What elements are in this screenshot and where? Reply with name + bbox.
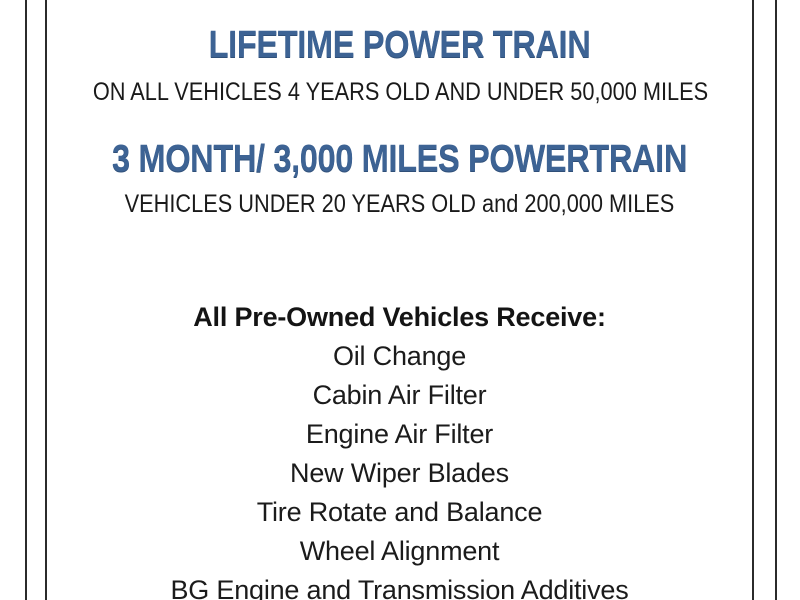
warranty-block-3month: 3 MONTH/ 3,000 MILES POWERTRAIN xyxy=(47,140,752,178)
frame-rule-right-inner xyxy=(752,0,754,600)
service-item: Engine Air Filter xyxy=(47,415,752,454)
services-section: All Pre-Owned Vehicles Receive: Oil Chan… xyxy=(47,298,752,600)
warranty-subtitle-3month: VEHICLES UNDER 20 YEARS OLD and 200,000 … xyxy=(93,192,706,217)
services-heading: All Pre-Owned Vehicles Receive: xyxy=(47,298,752,337)
service-item: Cabin Air Filter xyxy=(47,376,752,415)
warranty-subtitle-lifetime: ON ALL VEHICLES 4 YEARS OLD AND UNDER 50… xyxy=(93,80,706,105)
frame-rule-left-outer xyxy=(25,0,27,600)
warranty-subtitle-3month-wrap: VEHICLES UNDER 20 YEARS OLD and 200,000 … xyxy=(47,192,752,217)
warranty-title-3month: 3 MONTH/ 3,000 MILES POWERTRAIN xyxy=(96,140,702,178)
warranty-block-lifetime: LIFETIME POWER TRAIN xyxy=(47,26,752,64)
warranty-subtitle-lifetime-wrap: ON ALL VEHICLES 4 YEARS OLD AND UNDER 50… xyxy=(47,80,752,105)
warranty-flyer: LIFETIME POWER TRAIN ON ALL VEHICLES 4 Y… xyxy=(0,0,800,600)
warranty-title-lifetime: LIFETIME POWER TRAIN xyxy=(96,26,702,64)
service-item: Oil Change xyxy=(47,337,752,376)
service-item: BG Engine and Transmission Additives xyxy=(47,571,752,600)
service-item: Wheel Alignment xyxy=(47,532,752,571)
frame-rule-right-outer xyxy=(775,0,777,600)
service-item: Tire Rotate and Balance xyxy=(47,493,752,532)
service-item: New Wiper Blades xyxy=(47,454,752,493)
flyer-content: LIFETIME POWER TRAIN ON ALL VEHICLES 4 Y… xyxy=(47,0,752,600)
